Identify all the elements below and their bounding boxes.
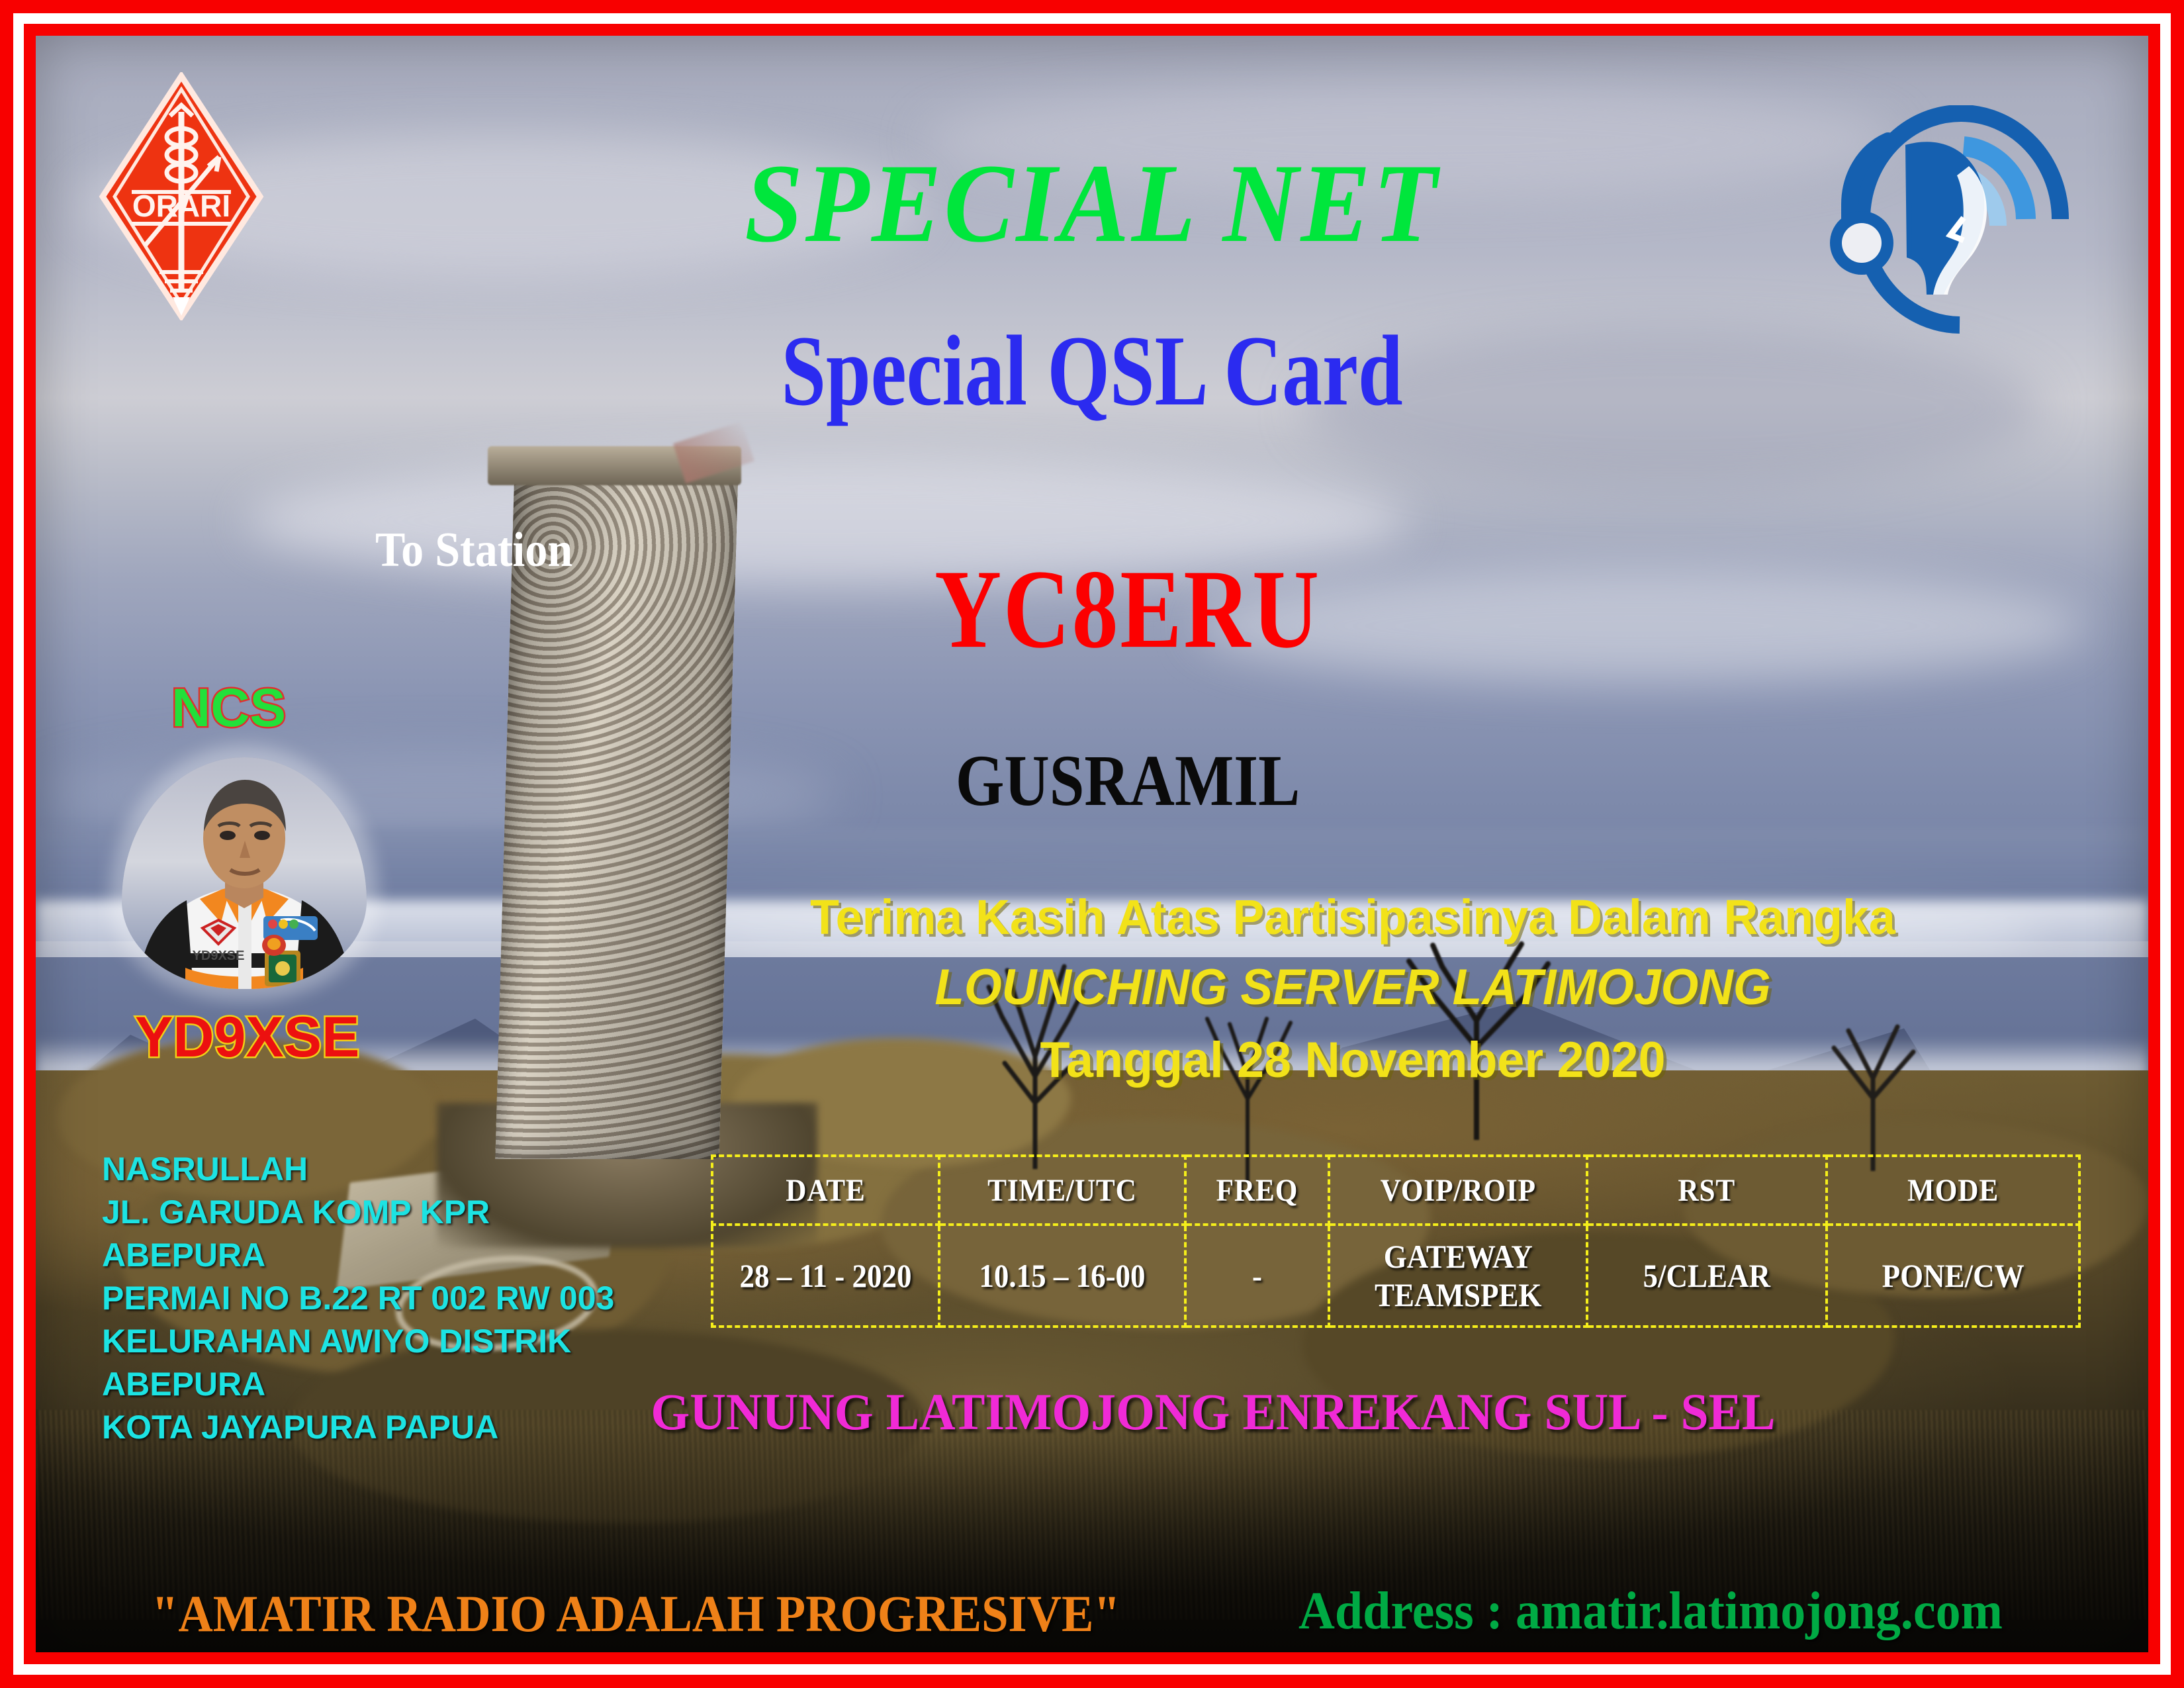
page-title: SPECIAL NET <box>110 147 2075 259</box>
address-line: KELURAHAN AWIYO DISTRIK <box>102 1320 645 1363</box>
address-line: NASRULLAH <box>102 1148 645 1191</box>
table-header-row: DATE TIME/UTC FREQ VOIP/ROIP RST MODE <box>712 1156 2079 1225</box>
cell-voip-roip: GATEWAY TEAMSPEK <box>1342 1225 1574 1327</box>
column-header-voip-roip: VOIP/ROIP <box>1342 1156 1574 1225</box>
cell-date: 28 – 11 - 2020 <box>723 1225 928 1327</box>
address-line: KOTA JAYAPURA PAPUA <box>102 1406 645 1449</box>
address-line: ABEPURA <box>102 1363 645 1406</box>
card-inner-red-frame: ORARI <box>24 24 2160 1664</box>
address-line: JL. GARUDA KOMP KPR <box>102 1191 645 1234</box>
website-address: Address : amatir.latimojong.com <box>1298 1585 2003 1638</box>
overlay-layer: ORARI <box>36 36 2148 1652</box>
qso-log-table: DATE TIME/UTC FREQ VOIP/ROIP RST MODE 28… <box>711 1154 2081 1328</box>
ncs-operator-photo: YD9XSE <box>122 757 367 989</box>
page-subtitle: Special QSL Card <box>247 320 1937 421</box>
ncs-label: NCS <box>171 681 286 735</box>
callsign-heading: YC8ERU <box>768 553 1487 665</box>
mailing-address-block: NASRULLAH JL. GARUDA KOMP KPR ABEPURA PE… <box>102 1148 645 1449</box>
ncs-callsign: YD9XSE <box>135 1009 359 1066</box>
column-header-freq: FREQ <box>1193 1156 1322 1225</box>
location-line: GUNUNG LATIMOJONG ENREKANG SUL - SEL <box>651 1386 1909 1438</box>
qsl-card: ORARI <box>0 0 2184 1688</box>
cell-freq: - <box>1193 1225 1322 1327</box>
column-header-rst: RST <box>1599 1156 1814 1225</box>
event-date-line: Tanggal 28 November 2020 <box>723 1035 1981 1086</box>
cell-mode: PONE/CW <box>1839 1225 2067 1327</box>
column-header-mode: MODE <box>1839 1156 2067 1225</box>
card-white-gap: ORARI <box>13 13 2171 1675</box>
operator-name: GUSRAMIL <box>792 744 1464 817</box>
address-line: ABEPURA <box>102 1234 645 1277</box>
background-photograph: ORARI <box>36 36 2148 1652</box>
column-header-time: TIME/UTC <box>952 1156 1173 1225</box>
motto-text: "AMATIR RADIO ADALAH PROGRESIVE" <box>152 1588 1120 1640</box>
to-station-label: To Station <box>375 522 572 579</box>
column-header-date: DATE <box>723 1156 928 1225</box>
thanks-line: Terima Kasih Atas Partisipasinya Dalam R… <box>723 893 1981 942</box>
event-line: LOUNCHING SERVER LATIMOJONG <box>730 962 1976 1013</box>
uniform-callsign-badge: YD9XSE <box>193 949 245 963</box>
table-row: 28 – 11 - 2020 10.15 – 16-00 - GATEWAY T… <box>712 1225 2079 1327</box>
address-line: PERMAI NO B.22 RT 002 RW 003 <box>102 1277 645 1320</box>
cell-rst: 5/CLEAR <box>1599 1225 1814 1327</box>
cell-time: 10.15 – 16-00 <box>952 1225 1173 1327</box>
